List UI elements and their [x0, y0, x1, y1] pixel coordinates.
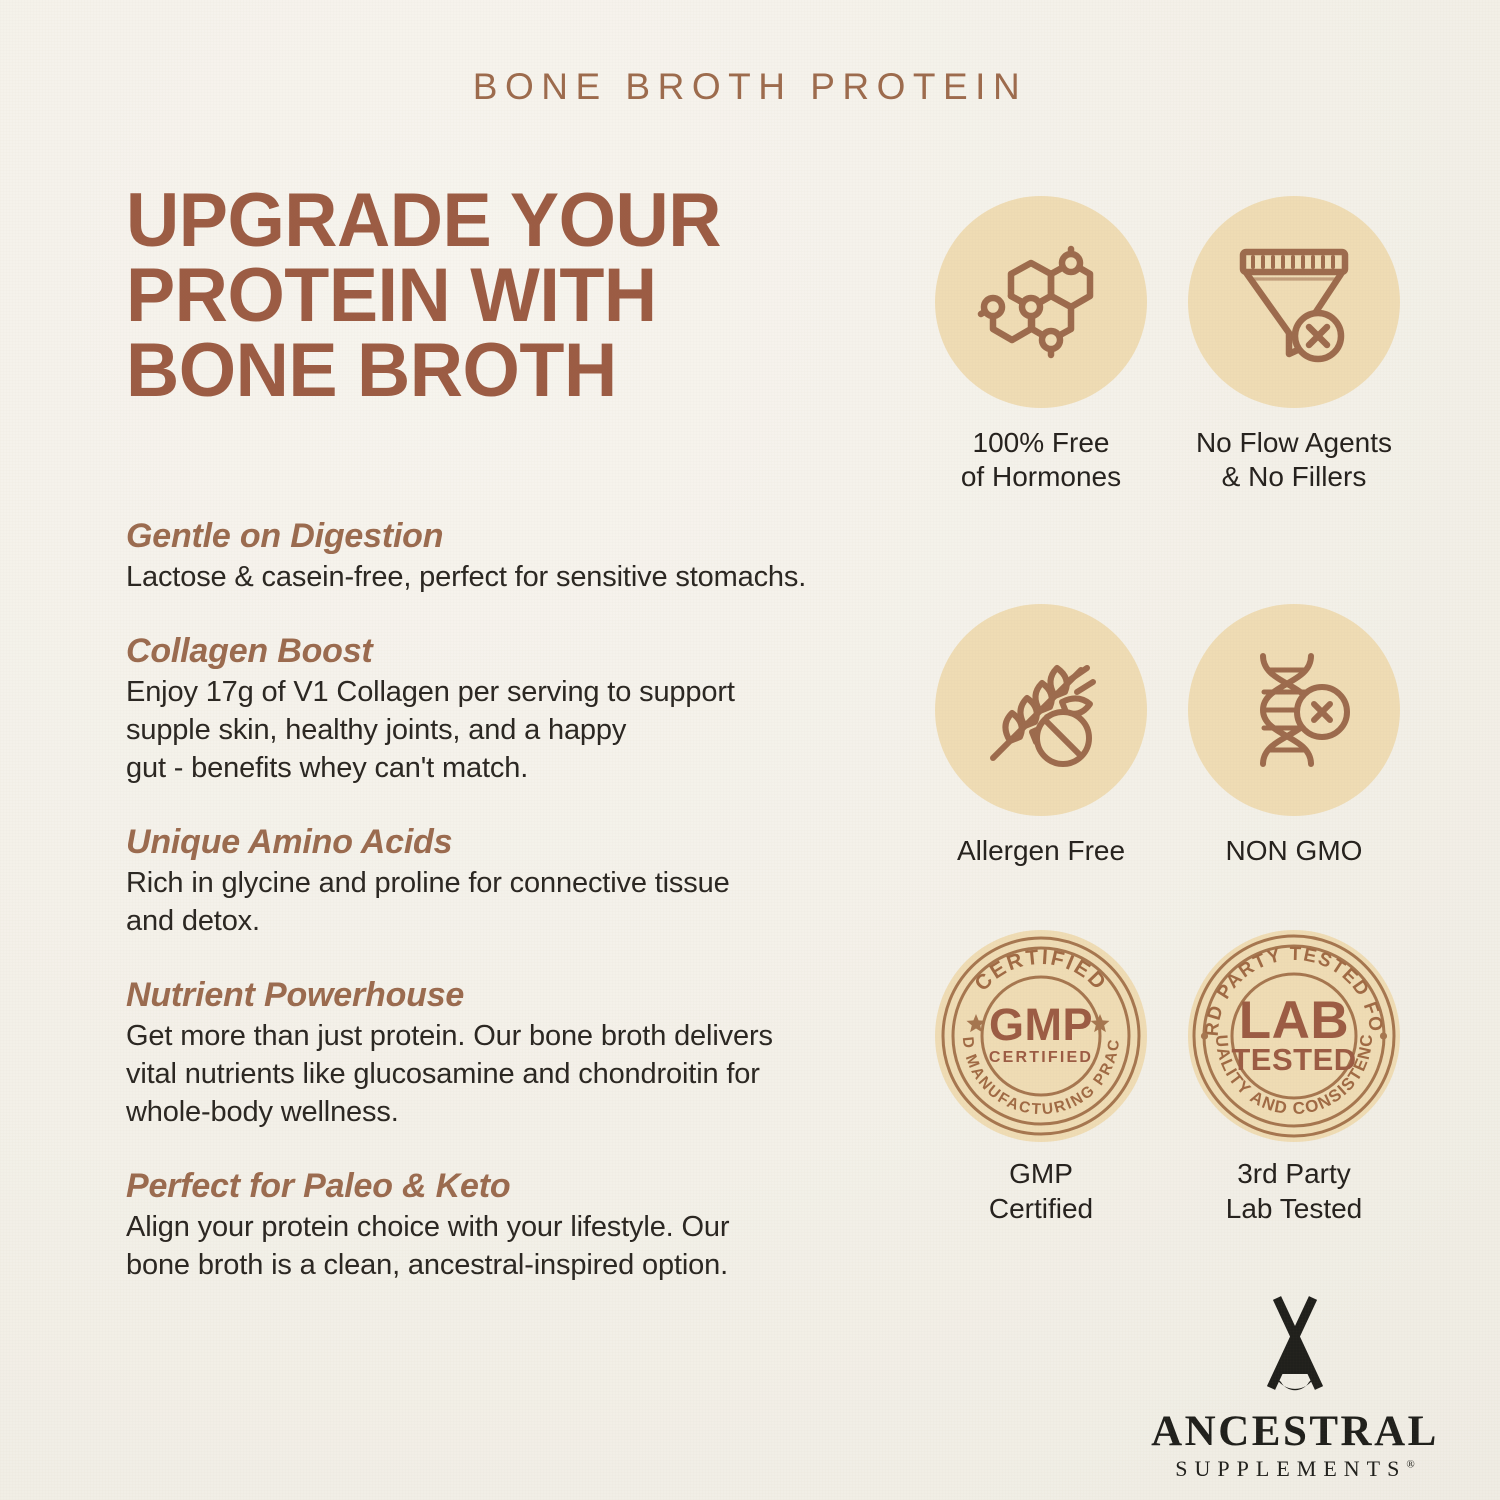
badge-label: 3rd Party Lab Tested [1226, 1157, 1363, 1225]
wheat-allergen-free-icon [977, 646, 1105, 774]
row-spacer [935, 868, 1400, 930]
benefit-title: Unique Amino Acids [126, 822, 926, 862]
badge-hormone-free: 100% Free of Hormones [935, 196, 1147, 494]
teepee-icon [1239, 1290, 1351, 1402]
badge-label-line: Lab Tested [1226, 1192, 1363, 1226]
badge-no-flow-agents: No Flow Agents & No Fillers [1188, 196, 1400, 494]
badge-label-line: 3rd Party [1226, 1157, 1363, 1191]
registered-mark: ® [1406, 1459, 1414, 1471]
benefit-title: Perfect for Paleo & Keto [126, 1166, 926, 1206]
infographic-page: BONE BROTH PROTEIN UPGRADE YOUR PROTEIN … [0, 0, 1500, 1500]
badge-gmp-certified: CERTIFIED GOOD MANUFACTURING PRACTICE GM… [935, 930, 1147, 1225]
lab-tested-seal: 3RD PARTY TESTED FOR QUALITY AND CONSIST… [1188, 930, 1400, 1142]
headline-line-2: PROTEIN WITH [126, 258, 892, 333]
benefit-body-line: supple skin, healthy joints, and a happy [126, 712, 926, 750]
seal-center-sub: CERTIFIED [989, 1049, 1093, 1066]
benefit-body-line: Rich in glycine and proline for connecti… [126, 865, 926, 903]
badge-label-line: Allergen Free [957, 834, 1125, 868]
badge-non-gmo: NON GMO [1188, 604, 1400, 868]
benefit-body-line: Align your protein choice with your life… [126, 1209, 926, 1247]
logo-subwordmark: SUPPLEMENTS® [1140, 1458, 1450, 1480]
benefit-body-line: bone broth is a clean, ancestral-inspire… [126, 1247, 926, 1285]
benefit-body-line: whole-body wellness. [126, 1094, 926, 1132]
brand-logo: ANCESTRAL SUPPLEMENTS® [1140, 1290, 1450, 1480]
benefit-body-line: gut - benefits whey can't match. [126, 750, 926, 788]
benefit-body: Rich in glycine and proline for connecti… [126, 865, 926, 941]
headline-line-1: UPGRADE YOUR [126, 183, 892, 258]
benefit-item: Unique Amino Acids Rich in glycine and p… [126, 822, 926, 941]
benefit-title: Gentle on Digestion [126, 516, 926, 556]
benefit-item: Perfect for Paleo & Keto Align your prot… [126, 1166, 926, 1285]
badge-label: 100% Free of Hormones [961, 426, 1121, 494]
benefit-body: Lactose & casein-free, perfect for sensi… [126, 559, 926, 597]
badge-row: Allergen Free [935, 604, 1400, 868]
benefit-body: Align your protein choice with your life… [126, 1209, 926, 1285]
badge-circle [935, 196, 1147, 408]
benefit-item: Collagen Boost Enjoy 17g of V1 Collagen … [126, 631, 926, 788]
gmp-certified-seal: CERTIFIED GOOD MANUFACTURING PRACTICE GM… [935, 930, 1147, 1142]
page-title: UPGRADE YOUR PROTEIN WITH BONE BROTH [126, 183, 892, 409]
benefit-title: Nutrient Powerhouse [126, 975, 926, 1015]
badge-circle [1188, 604, 1400, 816]
benefit-item: Gentle on Digestion Lactose & casein-fre… [126, 516, 926, 597]
benefits-list: Gentle on Digestion Lactose & casein-fre… [126, 516, 926, 1285]
benefit-item: Nutrient Powerhouse Get more than just p… [126, 975, 926, 1132]
benefit-body: Enjoy 17g of V1 Collagen per serving to … [126, 674, 926, 788]
badge-row: 100% Free of Hormones [935, 196, 1400, 494]
badge-circle [935, 604, 1147, 816]
benefit-body-line: Lactose & casein-free, perfect for sensi… [126, 559, 926, 597]
badge-label-line: No Flow Agents [1196, 426, 1392, 460]
hormone-molecule-icon [977, 238, 1105, 366]
benefit-title: Collagen Boost [126, 631, 926, 671]
dna-non-gmo-icon [1230, 646, 1358, 774]
seal-center-main: GMP [989, 999, 1093, 1050]
badge-row: CERTIFIED GOOD MANUFACTURING PRACTICE GM… [935, 930, 1400, 1225]
headline-line-3: BONE BROTH [126, 333, 892, 408]
badge-label: Allergen Free [957, 834, 1125, 868]
benefit-body: Get more than just protein. Our bone bro… [126, 1018, 926, 1132]
badge-label-line: 100% Free [961, 426, 1121, 460]
seal-center-sub: TESTED [1231, 1042, 1356, 1077]
badge-label-line: Certified [989, 1192, 1093, 1226]
badge-label-line: & No Fillers [1196, 460, 1392, 494]
row-spacer [935, 494, 1400, 604]
badge-allergen-free: Allergen Free [935, 604, 1147, 868]
page-kicker: BONE BROTH PROTEIN [0, 66, 1500, 108]
badge-label-line: of Hormones [961, 460, 1121, 494]
badge-label-line: GMP [989, 1157, 1093, 1191]
benefit-body-line: and detox. [126, 903, 926, 941]
benefit-body-line: Enjoy 17g of V1 Collagen per serving to … [126, 674, 926, 712]
benefit-body-line: vital nutrients like glucosamine and cho… [126, 1056, 926, 1094]
logo-subwordmark-text: SUPPLEMENTS [1175, 1456, 1406, 1481]
logo-wordmark: ANCESTRAL [1140, 1410, 1450, 1453]
trust-badges-grid: 100% Free of Hormones [935, 196, 1400, 1226]
badge-label-line: NON GMO [1226, 834, 1363, 868]
badge-label: No Flow Agents & No Fillers [1196, 426, 1392, 494]
badge-lab-tested: 3RD PARTY TESTED FOR QUALITY AND CONSIST… [1188, 930, 1400, 1225]
funnel-no-flow-agents-icon [1230, 238, 1358, 366]
benefit-body-line: Get more than just protein. Our bone bro… [126, 1018, 926, 1056]
badge-label: NON GMO [1226, 834, 1363, 868]
badge-circle [1188, 196, 1400, 408]
badge-label: GMP Certified [989, 1157, 1093, 1225]
